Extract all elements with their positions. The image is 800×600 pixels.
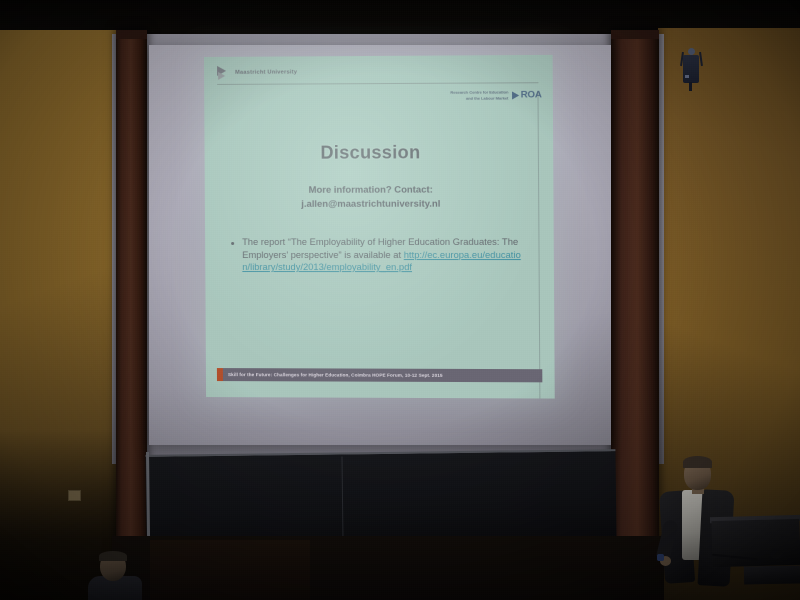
slide-bullet-item: The report “The Employability of Higher … (231, 236, 524, 274)
audience-hair (99, 551, 127, 561)
slide-header: Maastricht University (204, 55, 553, 89)
slide-footer-bar: Skill for the Future: Challenges for Hig… (217, 368, 542, 382)
roa-subtitle-line1: Research Centre for Education (450, 90, 508, 96)
lecture-hall-scene: Maastricht University Research Centre fo… (0, 0, 800, 600)
wooden-pillar-right-cap (611, 30, 659, 39)
wooden-pillar-right (611, 30, 659, 575)
presenter-hair (683, 456, 712, 468)
bullet-text: The report “The Employability of Higher … (242, 236, 524, 274)
bullet-dot-icon (231, 242, 234, 245)
contact-email: j.allen@maastrichtuniversity.nl (205, 197, 538, 212)
wooden-pillar-left (116, 30, 147, 590)
wooden-pillar-left-cap (116, 30, 147, 39)
footer-text: Skill for the Future: Challenges for Hig… (223, 372, 443, 378)
seat-back-row (150, 540, 310, 600)
slide-contact-block: More information? Contact: j.allen@maast… (205, 182, 538, 211)
presenter-laptop (744, 566, 800, 585)
maastricht-university-name: Maastricht University (235, 69, 297, 75)
blackboard-panel (145, 449, 616, 549)
presenter-mouse (770, 549, 783, 559)
contact-heading: More information? Contact: (205, 182, 538, 197)
projector-glow (204, 55, 555, 399)
seated-audience-member (84, 552, 154, 600)
wall-outlet (68, 490, 81, 501)
presentation-clicker (657, 554, 664, 561)
content-vertical-rule (538, 91, 541, 398)
roa-arrow-icon (513, 91, 520, 99)
maastricht-university-logo: Maastricht University (217, 65, 297, 78)
blackboard-seam (341, 456, 343, 544)
maastricht-university-logo-icon (217, 66, 230, 79)
roa-branding: Research Centre for Education and the La… (450, 89, 541, 101)
roa-subtitle-line2: and the Labour Market (450, 95, 508, 101)
roa-subtitle: Research Centre for Education and the La… (450, 90, 508, 101)
wall-device-stem (689, 82, 692, 91)
wall-mounted-speaker (683, 55, 699, 83)
wall-device-top (688, 48, 695, 55)
header-divider (217, 82, 538, 85)
projected-slide: Maastricht University Research Centre fo… (204, 55, 555, 399)
slide-title: Discussion (205, 142, 538, 164)
wall-device-indicator (685, 75, 689, 78)
